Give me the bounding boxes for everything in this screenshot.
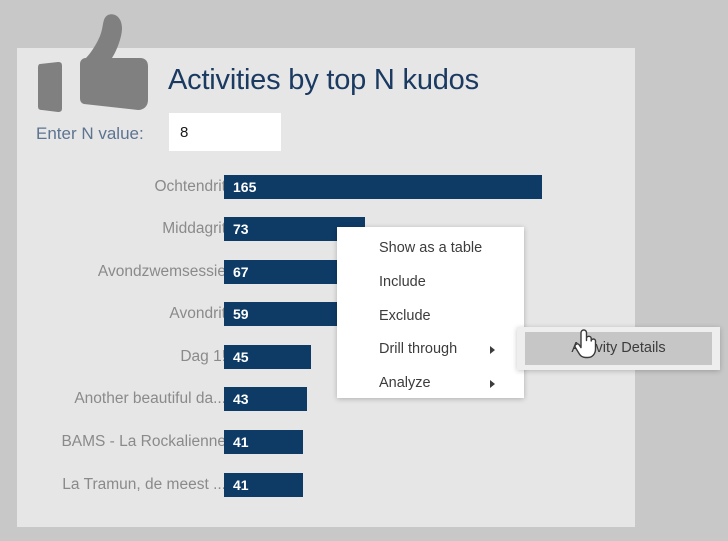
submenu-item-activity-details[interactable]: Activity Details <box>525 332 712 365</box>
menu-item-analyze[interactable]: Analyze <box>337 367 524 401</box>
bar-fill[interactable]: 59 <box>224 302 338 326</box>
menu-item-label: Include <box>379 274 426 290</box>
bar-row[interactable]: Avondrit 59 <box>0 302 618 326</box>
bar-fill[interactable]: 41 <box>224 430 303 454</box>
chevron-right-icon <box>490 380 495 388</box>
bar-fill[interactable]: 43 <box>224 387 307 411</box>
thumbs-up-icon <box>36 14 148 112</box>
bar-track: 59 <box>224 302 338 326</box>
chevron-right-icon <box>490 346 495 354</box>
bar-value-label: 165 <box>233 175 256 199</box>
bar-value-label: 73 <box>233 217 249 241</box>
bar-row[interactable]: BAMS - La Rockalienne 41 <box>0 430 618 454</box>
bar-value-label: 45 <box>233 345 249 369</box>
menu-item-label: Analyze <box>379 375 431 391</box>
bar-category-label: Avondrit <box>169 302 226 326</box>
bar-fill[interactable]: 41 <box>224 473 303 497</box>
menu-item-label: Exclude <box>379 308 431 324</box>
bar-row[interactable]: La Tramun, de meest ... 41 <box>0 473 618 497</box>
bar-value-label: 41 <box>233 473 249 497</box>
submenu-item-label: Activity Details <box>571 340 665 356</box>
context-menu: Show as a table Include Exclude Drill th… <box>337 227 524 398</box>
bar-value-label: 41 <box>233 430 249 454</box>
menu-item-include[interactable]: Include <box>337 266 524 300</box>
bar-category-label: Ochtendrit <box>154 175 226 199</box>
bar-fill[interactable]: 67 <box>224 260 353 284</box>
n-value-label: Enter N value: <box>36 124 144 144</box>
bar-track: 165 <box>224 175 542 199</box>
bar-track: 43 <box>224 387 307 411</box>
bar-value-label: 59 <box>233 302 249 326</box>
drill-through-submenu: Activity Details <box>517 327 720 370</box>
menu-item-drill-through[interactable]: Drill through <box>337 333 524 367</box>
n-value-input[interactable] <box>169 113 281 151</box>
bar-track: 67 <box>224 260 353 284</box>
menu-item-show-as-a-table[interactable]: Show as a table <box>337 232 524 266</box>
bar-value-label: 67 <box>233 260 249 284</box>
bar-track: 45 <box>224 345 311 369</box>
bar-row[interactable]: Ochtendrit 165 <box>0 175 618 199</box>
menu-item-label: Show as a table <box>379 240 482 256</box>
menu-item-label: Drill through <box>379 341 457 357</box>
bar-category-label: La Tramun, de meest ... <box>62 473 226 497</box>
bar-category-label: Avondzwemsessie <box>98 260 226 284</box>
bar-row[interactable]: Avondzwemsessie 67 <box>0 260 618 284</box>
page-title: Activities by top N kudos <box>168 64 479 97</box>
bar-fill[interactable]: 165 <box>224 175 542 199</box>
bar-track: 41 <box>224 430 303 454</box>
menu-item-exclude[interactable]: Exclude <box>337 300 524 334</box>
bar-category-label: Middagrit <box>162 217 226 241</box>
bar-row[interactable]: Another beautiful da... 43 <box>0 387 618 411</box>
bar-fill[interactable]: 45 <box>224 345 311 369</box>
bar-category-label: BAMS - La Rockalienne <box>61 430 226 454</box>
bar-track: 41 <box>224 473 303 497</box>
bar-value-label: 43 <box>233 387 249 411</box>
bar-category-label: Dag 1! <box>180 345 226 369</box>
bar-row[interactable]: Middagrit 73 <box>0 217 618 241</box>
bar-category-label: Another beautiful da... <box>74 387 226 411</box>
